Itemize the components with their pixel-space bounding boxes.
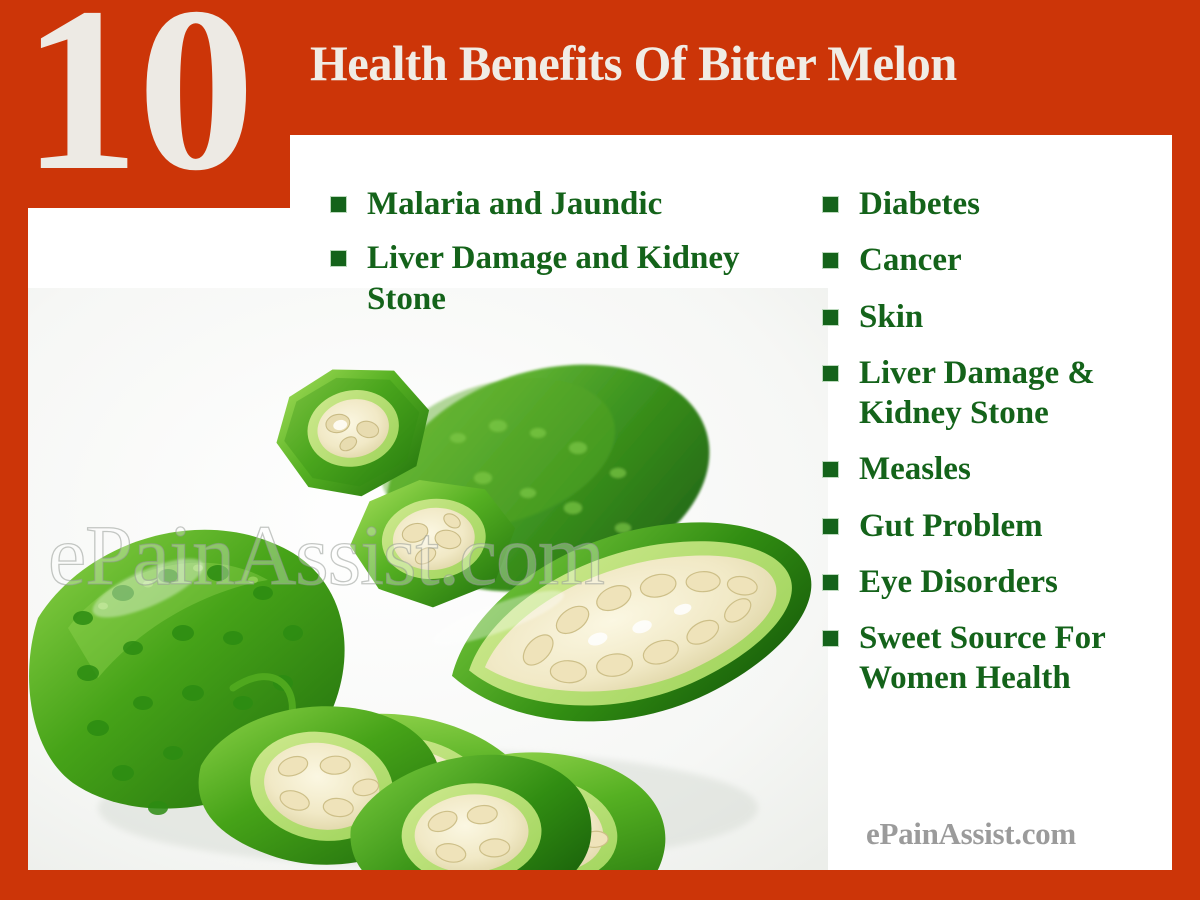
- list-item-label: Measles: [859, 449, 971, 489]
- list-item-label: Liver Damage and Kidney Stone: [367, 238, 770, 319]
- bitter-melon-illustration: [28, 288, 828, 870]
- list-item-label: Skin: [859, 297, 923, 337]
- bullet-square-icon: [822, 309, 839, 326]
- list-item: Sweet Source For Women Health: [822, 618, 1172, 699]
- page-number-10: 10: [22, 0, 292, 207]
- list-item-label: Diabetes: [859, 184, 980, 224]
- bullet-square-icon: [330, 196, 347, 213]
- list-item: Malaria and Jaundic: [330, 184, 770, 224]
- infographic-poster: ePainAssist.com 10 Health Benefits Of Bi…: [0, 0, 1200, 900]
- brand-footer: ePainAssist.com: [866, 818, 1076, 849]
- bullet-square-icon: [822, 196, 839, 213]
- bullet-square-icon: [822, 574, 839, 591]
- list-item-label: Malaria and Jaundic: [367, 184, 662, 224]
- list-item-label: Eye Disorders: [859, 562, 1058, 602]
- list-item: Skin: [822, 297, 1172, 337]
- list-item: Cancer: [822, 240, 1172, 280]
- list-item: Liver Damage & Kidney Stone: [822, 353, 1172, 434]
- list-item-label: Sweet Source For Women Health: [859, 618, 1172, 699]
- benefits-column-left: Malaria and Jaundic Liver Damage and Kid…: [330, 184, 770, 333]
- page-title: Health Benefits Of Bitter Melon: [310, 38, 1144, 88]
- bullet-square-icon: [822, 365, 839, 382]
- bullet-square-icon: [822, 252, 839, 269]
- bullet-square-icon: [822, 518, 839, 535]
- bullet-square-icon: [822, 630, 839, 647]
- list-item-label: Cancer: [859, 240, 962, 280]
- list-item: Eye Disorders: [822, 562, 1172, 602]
- bullet-square-icon: [822, 461, 839, 478]
- list-item: Diabetes: [822, 184, 1172, 224]
- benefits-column-right: Diabetes Cancer Skin Liver Damage & Kidn…: [822, 184, 1172, 715]
- list-item-label: Gut Problem: [859, 506, 1043, 546]
- bullet-square-icon: [330, 250, 347, 267]
- list-item: Gut Problem: [822, 506, 1172, 546]
- list-item: Liver Damage and Kidney Stone: [330, 238, 770, 319]
- list-item-label: Liver Damage & Kidney Stone: [859, 353, 1172, 434]
- bitter-melon-photo: [28, 288, 828, 870]
- list-item: Measles: [822, 449, 1172, 489]
